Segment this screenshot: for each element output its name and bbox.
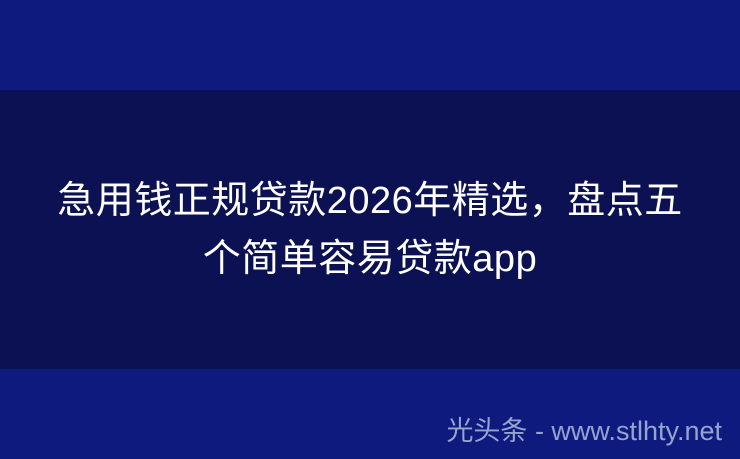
headline-line-1: 急用钱正规贷款2026年精选，盘点五 <box>0 172 740 230</box>
site-watermark: 光头条 - www.stlhty.net <box>446 415 722 447</box>
headline-line-2: 个简单容易贷款app <box>0 230 740 288</box>
headline-title: 急用钱正规贷款2026年精选，盘点五 个简单容易贷款app <box>0 172 740 288</box>
promo-banner: 急用钱正规贷款2026年精选，盘点五 个简单容易贷款app 光头条 - www.… <box>0 0 740 459</box>
top-color-band <box>0 0 740 90</box>
